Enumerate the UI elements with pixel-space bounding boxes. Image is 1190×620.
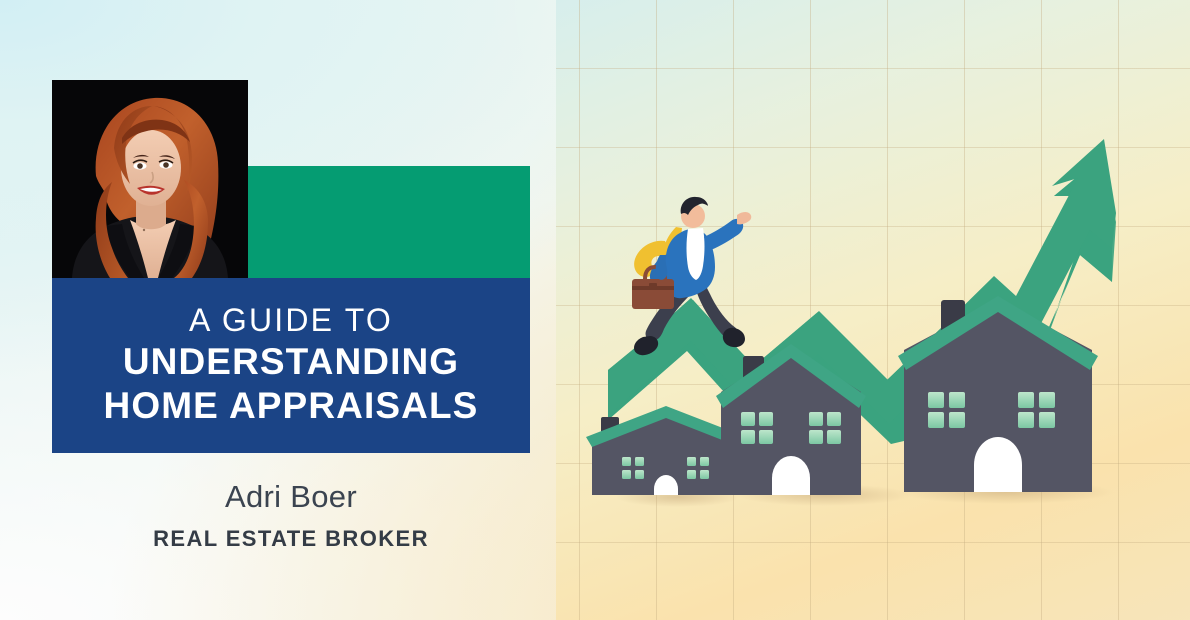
agent-role: REAL ESTATE BROKER xyxy=(52,526,530,552)
agent-name: Adri Boer xyxy=(52,478,530,517)
large-house-door xyxy=(974,437,1022,492)
byline-block: Adri Boer REAL ESTATE BROKER xyxy=(52,478,530,552)
poster-canvas: A GUIDE TO UNDERSTANDING HOME APPRAISALS… xyxy=(0,0,1190,620)
green-accent-block xyxy=(248,166,530,278)
headline-line-1: A GUIDE TO xyxy=(189,302,393,340)
illustration-artwork xyxy=(556,0,1190,620)
headline-line-3: HOME APPRAISALS xyxy=(104,384,479,428)
large-house-icon xyxy=(898,296,1098,492)
illustration-panel xyxy=(556,0,1190,620)
headline-line-2: UNDERSTANDING xyxy=(123,340,459,384)
agent-portrait-photo xyxy=(52,80,248,278)
headline-block: A GUIDE TO UNDERSTANDING HOME APPRAISALS xyxy=(52,278,530,453)
